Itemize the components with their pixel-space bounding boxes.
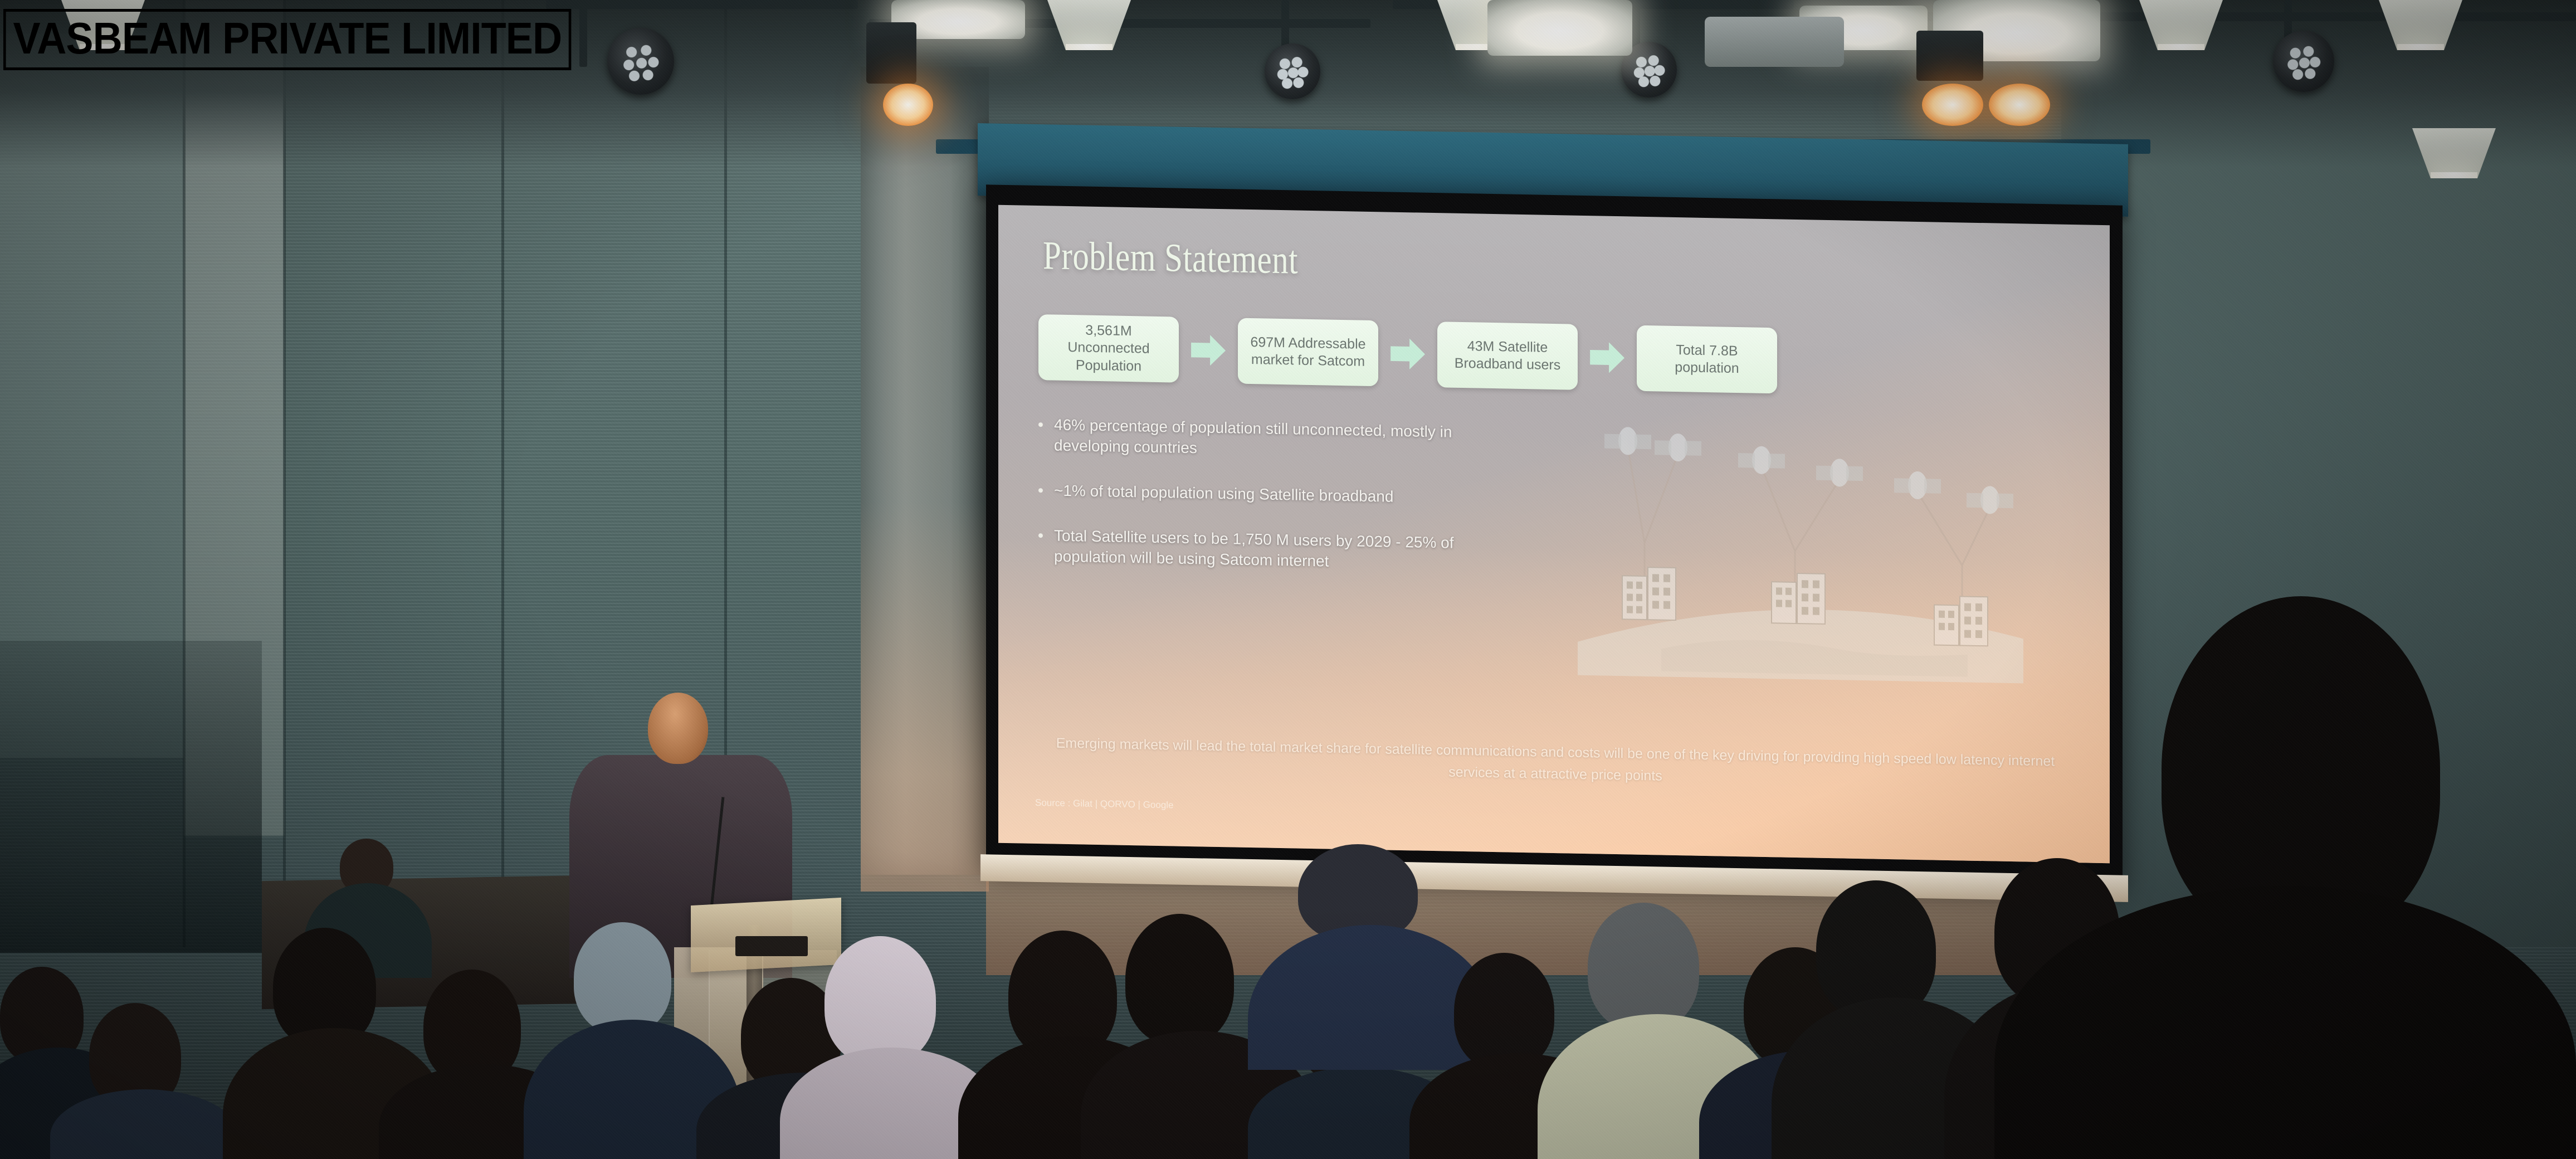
par-can-light	[607, 28, 674, 95]
warm-stage-light	[883, 84, 933, 126]
audience-head-ponytail	[1125, 914, 1234, 1045]
right-arrow-icon	[1391, 337, 1425, 371]
podium-top	[691, 898, 841, 972]
truss-beam	[546, 0, 858, 9]
par-can-light	[2273, 31, 2334, 92]
audience-head	[574, 922, 671, 1034]
flow-diagram: 3,561M Unconnected Population 697M Addre…	[1038, 314, 1777, 393]
bullet-dot-icon	[1038, 488, 1043, 493]
photo-scene: Problem Statement 3,561M Unconnected Pop…	[0, 0, 2576, 1159]
warm-stage-light	[1922, 84, 1983, 126]
ceiling-panel-light	[1487, 0, 1632, 56]
list-item: 46% percentage of population still uncon…	[1038, 415, 1462, 464]
stage-light-body	[866, 22, 916, 84]
truss-drop	[579, 0, 587, 67]
pillar-light-glow	[861, 501, 989, 892]
bullet-list: 46% percentage of population still uncon…	[1038, 415, 1462, 599]
slide-caption: Emerging markets will lead the total mar…	[1032, 732, 2079, 795]
flow-box-unconnected-population: 3,561M Unconnected Population	[1038, 314, 1179, 383]
bullet-text: Total Satellite users to be 1,750 M user…	[1054, 525, 1462, 574]
right-arrow-icon	[1590, 340, 1624, 374]
bullet-dot-icon	[1038, 422, 1043, 427]
par-can-light	[1265, 43, 1320, 99]
list-item: Total Satellite users to be 1,750 M user…	[1038, 525, 1462, 574]
flow-box-total-population: Total 7.8B population	[1637, 325, 1777, 394]
bullet-text: ~1% of total population using Satellite …	[1054, 480, 1393, 507]
wall-shadow-left	[0, 641, 262, 953]
bullet-dot-icon	[1038, 533, 1043, 538]
ceiling-speaker-box	[1705, 17, 1844, 67]
warm-stage-light	[1989, 84, 2050, 126]
projection-screen: Problem Statement 3,561M Unconnected Pop…	[998, 205, 2110, 864]
flow-box-satellite-broadband-users: 43M Satellite Broadband users	[1437, 322, 1578, 390]
podium-plate	[735, 936, 808, 956]
flow-box-addressable-market: 697M Addressable market for Satcom	[1238, 318, 1378, 387]
satellite-network-illustration	[1578, 408, 2023, 684]
audience-head	[1454, 953, 1554, 1070]
bullet-text: 46% percentage of population still uncon…	[1054, 415, 1462, 464]
slide-source: Source : Gilat | QORVO | Google	[1035, 797, 1174, 811]
watermark: VASBEAM PRIVATE LIMITED	[3, 9, 572, 70]
list-item: ~1% of total population using Satellite …	[1038, 480, 1462, 509]
right-arrow-icon	[1191, 333, 1226, 367]
stage-light-body	[1916, 31, 1983, 81]
audience-head-headscarf	[824, 936, 936, 1064]
slide-title: Problem Statement	[1043, 232, 1298, 283]
audience-head-grey-hair	[1588, 903, 1699, 1031]
speaker-head	[648, 693, 708, 764]
